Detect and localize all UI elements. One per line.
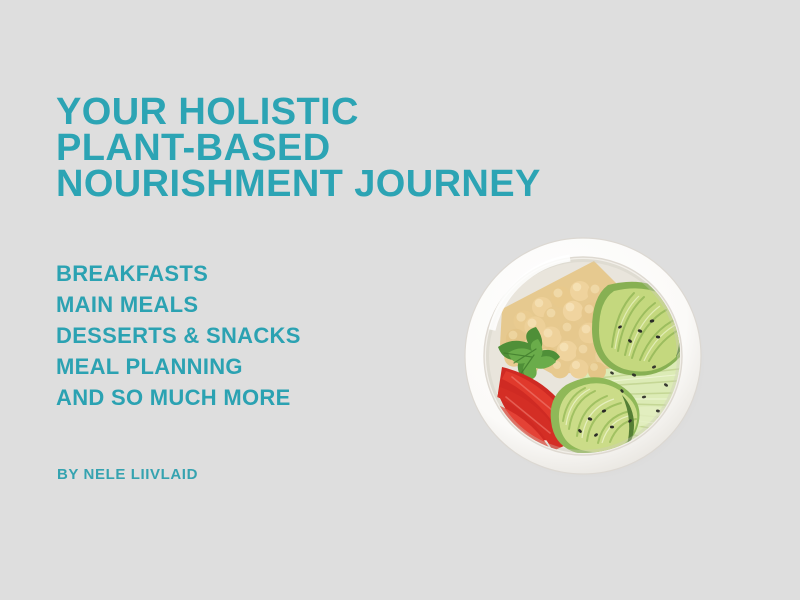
headline-line-3: NOURISHMENT JOURNEY	[56, 166, 656, 202]
poster-canvas: YOUR HOLISTIC PLANT-BASED NOURISHMENT JO…	[0, 0, 800, 600]
author-byline: BY NELE LIIVLAID	[57, 466, 198, 483]
list-item: BREAKFASTS	[56, 258, 436, 289]
plant-based-buddha-bowl-photo	[462, 235, 704, 477]
page-title: YOUR HOLISTIC PLANT-BASED NOURISHMENT JO…	[56, 94, 656, 202]
list-item: AND SO MUCH MORE	[56, 382, 436, 413]
headline-line-1: YOUR HOLISTIC	[56, 94, 656, 130]
list-item: DESSERTS & SNACKS	[56, 320, 436, 351]
list-item: MAIN MEALS	[56, 289, 436, 320]
list-item: MEAL PLANNING	[56, 351, 436, 382]
headline-line-2: PLANT-BASED	[56, 130, 656, 166]
feature-list: BREAKFASTS MAIN MEALS DESSERTS & SNACKS …	[56, 258, 436, 413]
